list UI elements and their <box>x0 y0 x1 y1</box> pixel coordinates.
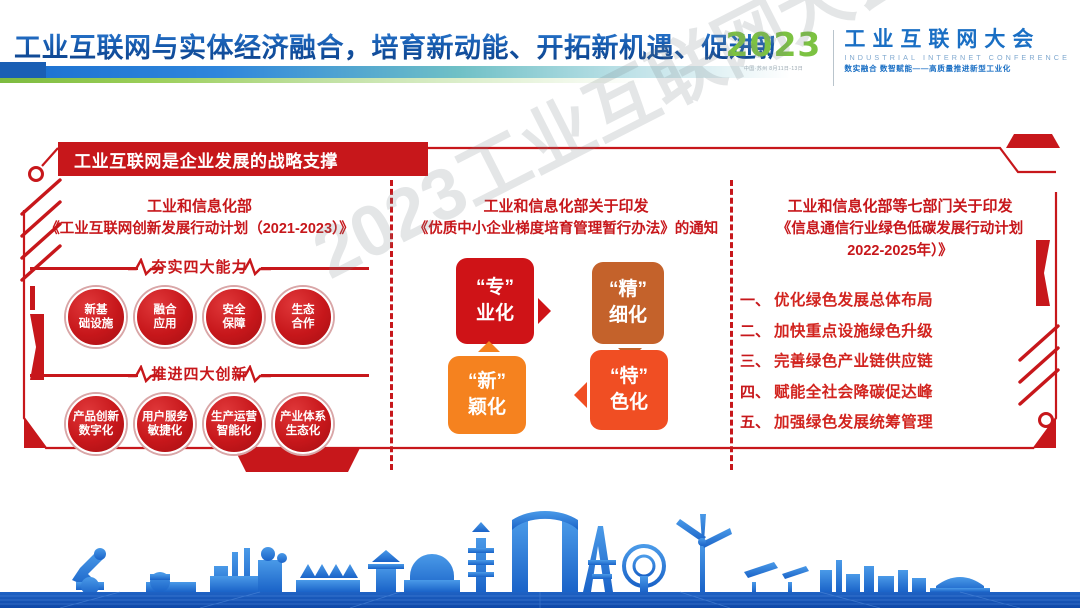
circle-line2: 应用 <box>154 317 177 331</box>
skyline-silhouette <box>72 511 990 595</box>
specialization-bubbles: “专” 业化 “精” 细化 “新” 颖化 “特” 色化 <box>398 254 734 434</box>
bubble-line2: 细化 <box>609 303 647 329</box>
innovation-circle[interactable]: 产业体系 生态化 <box>273 394 333 454</box>
bubble-zhuanyehua[interactable]: “专” 业化 <box>456 258 534 344</box>
bubble-line1: “专” <box>476 275 514 301</box>
left-section-1-circles: 新基 础设施 融合 应用 安全 保障 生态 合作 <box>22 287 377 347</box>
list-item[interactable]: 四、 赋能全社会降碳促达峰 <box>740 380 1060 402</box>
circle-line1: 融合 <box>154 303 177 317</box>
capability-circle[interactable]: 生态 合作 <box>273 287 333 347</box>
list-item-number: 五、 <box>740 411 774 432</box>
list-item-label: 优化绿色发展总体布局 <box>774 288 933 310</box>
logo-name-en: INDUSTRIAL INTERNET CONFERENCE <box>844 52 1070 63</box>
right-heading-line2: 《信息通信行业绿色低碳发展行动计划 <box>740 218 1060 240</box>
green-action-list: 一、 优化绿色发展总体布局 二、 加快重点设施绿色升级 三、 完善绿色产业链供应… <box>740 288 1060 432</box>
section-banner: 工业互联网是企业发展的战略支撑 <box>58 142 428 176</box>
logo-name-cn: 工业互联网大会 <box>844 28 1070 52</box>
middle-heading-line1: 工业和信息化部关于印发 <box>398 196 734 218</box>
circle-line2: 合作 <box>292 317 315 331</box>
right-heading-line3: 2022-2025年）》 <box>740 240 1060 262</box>
section-banner-label: 工业互联网是企业发展的战略支撑 <box>58 147 338 172</box>
list-item-label: 加快重点设施绿色升级 <box>774 319 933 341</box>
bubble-line2: 业化 <box>476 301 514 327</box>
circle-line2: 数字化 <box>79 424 114 438</box>
frame-node-left <box>30 168 43 181</box>
title-underline-green <box>0 78 700 83</box>
bubble-jingxihua[interactable]: “精” 细化 <box>592 262 664 344</box>
circle-line1: 产业体系 <box>280 410 326 424</box>
conference-logo: 2023 中国·苏州 8月11日-13日 工业互联网大会 INDUSTRIAL … <box>726 28 1070 90</box>
innovation-circle[interactable]: 用户服务 敏捷化 <box>135 394 195 454</box>
left-heading-line1: 工业和信息化部 <box>22 196 377 218</box>
circle-line1: 新基 <box>85 303 108 317</box>
circle-line1: 生产运营 <box>211 410 257 424</box>
bubble-xinyinghua[interactable]: “新” 颖化 <box>448 356 526 434</box>
circle-line1: 产品创新 <box>73 410 119 424</box>
middle-column-heading: 工业和信息化部关于印发 《优质中小企业梯度培育管理暂行办法》的通知 <box>398 196 734 240</box>
capability-circle[interactable]: 安全 保障 <box>204 287 264 347</box>
logo-year: 2023 <box>726 28 822 62</box>
capability-circle[interactable]: 融合 应用 <box>135 287 195 347</box>
logo-tagline: 数实融合 数智赋能——高质量推进新型工业化 <box>844 63 1070 74</box>
right-column-heading: 工业和信息化部等七部门关于印发 《信息通信行业绿色低碳发展行动计划 2022-2… <box>740 196 1060 262</box>
circle-line1: 用户服务 <box>142 410 188 424</box>
footer-skyline <box>0 490 1080 608</box>
list-item[interactable]: 一、 优化绿色发展总体布局 <box>740 288 1060 310</box>
section-rule-right <box>261 374 369 377</box>
circle-line2: 生态化 <box>286 424 321 438</box>
page-title: 工业互联网与实体经济融合，培育新动能、开拓新机遇、促进新发展 <box>14 26 774 65</box>
capability-circle[interactable]: 新基 础设施 <box>66 287 126 347</box>
logo-name-block: 工业互联网大会 INDUSTRIAL INTERNET CONFERENCE 数… <box>844 28 1070 74</box>
list-item[interactable]: 五、 加强绿色发展统筹管理 <box>740 410 1060 432</box>
left-section-2-title: 推进四大创新 <box>22 363 377 385</box>
bubble-line2: 色化 <box>610 390 648 416</box>
bubble-line1: “特” <box>610 364 648 390</box>
logo-date-line: 中国·苏州 8月11日-13日 <box>726 65 822 72</box>
logo-year-block: 2023 中国·苏州 8月11日-13日 <box>726 28 834 72</box>
title-underline-blue <box>0 66 790 78</box>
bubble-line1: “新” <box>468 369 506 395</box>
circle-line2: 敏捷化 <box>148 424 183 438</box>
left-heading-line2: 《工业互联网创新发展行动计划（2021-2023）》 <box>22 218 377 240</box>
circle-line1: 安全 <box>223 303 246 317</box>
column-left: 工业和信息化部 《工业互联网创新发展行动计划（2021-2023）》 夯实四大能… <box>22 196 377 454</box>
bubble-line1: “精” <box>609 277 647 303</box>
innovation-circle[interactable]: 产品创新 数字化 <box>66 394 126 454</box>
list-item-label: 赋能全社会降碳促达峰 <box>774 380 933 402</box>
list-item-number: 三、 <box>740 350 774 371</box>
circle-line2: 保障 <box>223 317 246 331</box>
circle-line2: 础设施 <box>79 317 114 331</box>
list-item-number: 四、 <box>740 381 774 402</box>
right-heading-line1: 工业和信息化部等七部门关于印发 <box>740 196 1060 218</box>
column-divider-1 <box>390 180 393 470</box>
bubble-tesehua[interactable]: “特” 色化 <box>590 350 668 430</box>
logo-divider <box>833 30 834 86</box>
column-middle: 工业和信息化部关于印发 《优质中小企业梯度培育管理暂行办法》的通知 “专” 业化… <box>398 196 734 434</box>
column-right: 工业和信息化部等七部门关于印发 《信息通信行业绿色低碳发展行动计划 2022-2… <box>740 196 1060 441</box>
left-column-heading: 工业和信息化部 《工业互联网创新发展行动计划（2021-2023）》 <box>22 196 377 240</box>
slide-canvas: 工业互联网与实体经济融合，培育新动能、开拓新机遇、促进新发展 2023 中国·苏… <box>0 0 1080 608</box>
list-item-label: 完善绿色产业链供应链 <box>774 349 933 371</box>
list-item-number: 二、 <box>740 320 774 341</box>
list-item-number: 一、 <box>740 289 774 310</box>
middle-heading-line2: 《优质中小企业梯度培育管理暂行办法》的通知 <box>398 218 734 240</box>
frame-tab-top-right <box>1006 134 1060 148</box>
left-section-2-circles: 产品创新 数字化 用户服务 敏捷化 生产运营 智能化 产业体系 生态化 <box>22 394 377 454</box>
innovation-circle[interactable]: 生产运营 智能化 <box>204 394 264 454</box>
slide-header: 工业互联网与实体经济融合，培育新动能、开拓新机遇、促进新发展 2023 中国·苏… <box>0 0 1080 100</box>
left-section-1-title: 夯实四大能力 <box>22 256 377 278</box>
circle-line2: 智能化 <box>217 424 252 438</box>
list-item-label: 加强绿色发展统筹管理 <box>774 410 933 432</box>
list-item[interactable]: 二、 加快重点设施绿色升级 <box>740 319 1060 341</box>
list-item[interactable]: 三、 完善绿色产业链供应链 <box>740 349 1060 371</box>
section-rule-right <box>261 267 369 270</box>
bubble-line2: 颖化 <box>468 395 506 421</box>
circle-line1: 生态 <box>292 303 315 317</box>
